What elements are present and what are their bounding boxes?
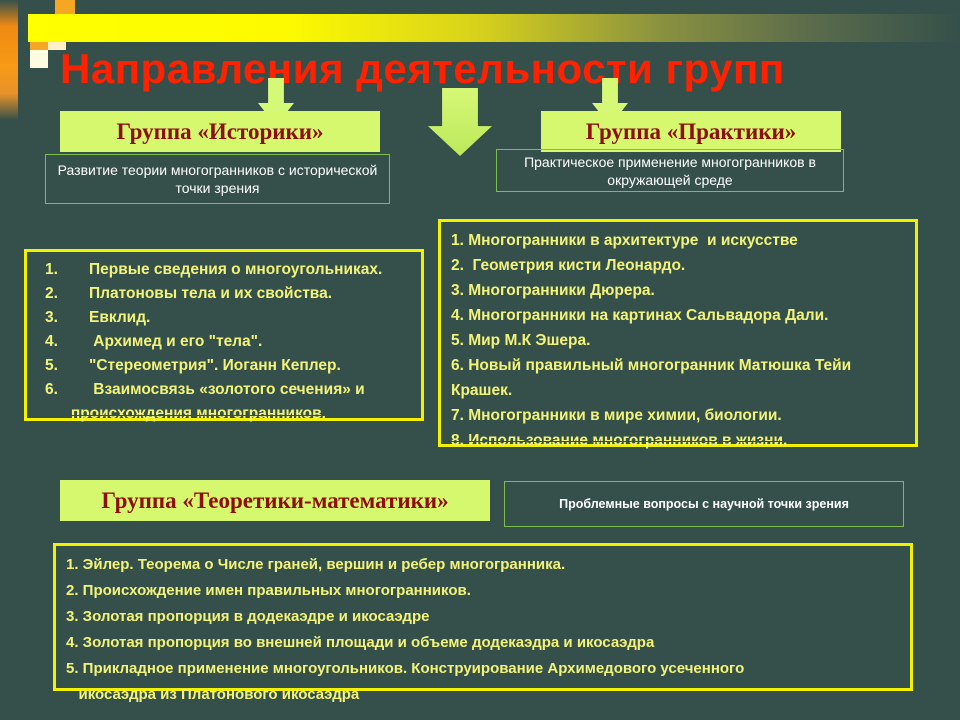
list-item-text: Евклид. <box>89 309 150 326</box>
header-gradient-bar <box>28 14 960 42</box>
group-description-practitioners: Практическое применение многогранников в… <box>496 149 844 192</box>
decor-square-3 <box>55 0 75 14</box>
list-item: 6. Новый правильный многогранник Матюшка… <box>451 353 905 403</box>
list-item: 4. Архимед и его "тела". <box>37 330 411 354</box>
decor-square-8 <box>30 50 48 68</box>
list-box-theorists: 1. Эйлер. Теорема о Числе граней, вершин… <box>53 543 913 691</box>
list-item: 5."Стереометрия". Иоганн Кеплер. <box>37 354 411 378</box>
list-item: 2.Платоновы тела и их свойства. <box>37 282 411 306</box>
list-item: 4. Золотая пропорция во внешней площади … <box>66 630 900 656</box>
list-box-historians: 1.Первые сведения о многоугольниках. 2.П… <box>24 249 424 421</box>
list-item: 3.Евклид. <box>37 306 411 330</box>
list-item: 5. Мир М.К Эшера. <box>451 328 905 353</box>
group-plate-theorists: Группа «Теоретики-математики» <box>60 480 490 521</box>
list-item: 3. Золотая пропорция в додекаэдре и икос… <box>66 604 900 630</box>
list-item: 2. Происхождение имен правильных многогр… <box>66 578 900 604</box>
list-item: 4. Многогранники на картинах Сальвадора … <box>451 303 905 328</box>
list-item: 5. Прикладное применение многоугольников… <box>66 656 900 708</box>
list-item-text: Первые сведения о многоугольниках. <box>89 261 382 278</box>
group-plate-practitioners: Группа «Практики» <box>541 111 841 152</box>
list-item-number: 6. <box>45 378 89 402</box>
list-item: 8. Использование многогранников в жизни. <box>451 428 905 453</box>
list-item-number: 1. <box>45 258 89 282</box>
list-item-number: 3. <box>45 306 89 330</box>
list-item: 2. Геометрия кисти Леонардо. <box>451 253 905 278</box>
group-description-historians: Развитие теории многогранников с историч… <box>45 154 390 204</box>
slide-canvas: Направления деятельности групп Группа «И… <box>0 0 960 720</box>
list-item-text: Платоновы тела и их свойства. <box>89 285 332 302</box>
list-item: 1. Эйлер. Теорема о Числе граней, вершин… <box>66 552 900 578</box>
list-item: 6. Взаимосвязь «золотого сечения» и прои… <box>37 378 411 426</box>
list-item: 1.Первые сведения о многоугольниках. <box>37 258 411 282</box>
list-item-text: Взаимосвязь «золотого сечения» и происхо… <box>45 381 365 422</box>
group-plate-historians: Группа «Историки» <box>60 111 380 152</box>
list-item-text: "Стереометрия". Иоганн Кеплер. <box>89 357 341 374</box>
list-item: 7. Многогранники в мире химии, биологии. <box>451 403 905 428</box>
group-description-theorists: Проблемные вопросы с научной точки зрени… <box>504 481 904 527</box>
list-box-practitioners: 1. Многогранники в архитектуре и искусст… <box>438 219 918 447</box>
list-item: 3. Многогранники Дюрера. <box>451 278 905 303</box>
list-item: 1. Многогранники в архитектуре и искусст… <box>451 228 905 253</box>
page-title: Направления деятельности групп <box>60 45 910 93</box>
down-arrow-center-icon <box>428 88 492 156</box>
list-item-text: Архимед и его "тела". <box>89 333 262 350</box>
list-item-number: 2. <box>45 282 89 306</box>
list-item-number: 5. <box>45 354 89 378</box>
decor-orange-gradient-bar <box>0 0 18 120</box>
list-item-number: 4. <box>45 330 89 354</box>
